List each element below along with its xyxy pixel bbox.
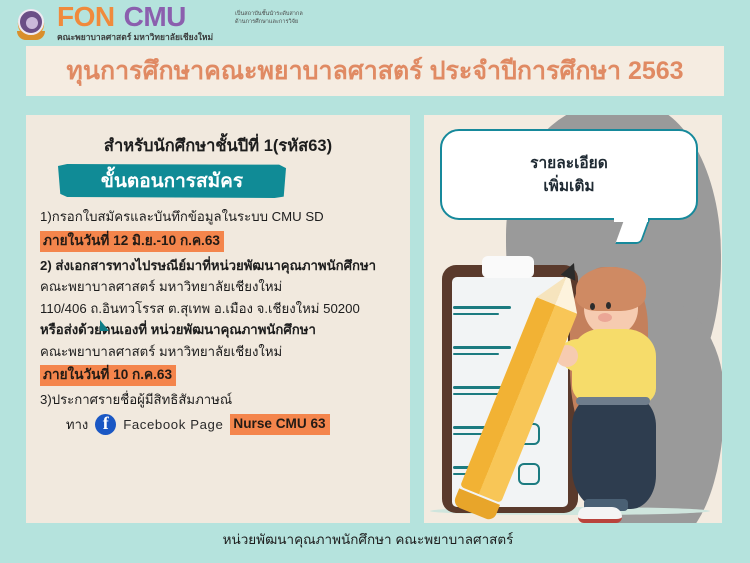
- step-2-walkin-line-1: หรือส่งด้วยตนเองที่ หน่วยพัฒนาคุณภาพนักศ…: [40, 319, 396, 341]
- eye-left: [590, 303, 595, 310]
- footer-text: หน่วยพัฒนาคุณภาพนักศึกษา คณะพยาบาลศาสตร์: [223, 532, 528, 547]
- step-1-text: 1)กรอกใบสมัครและบันทึกข้อมูลในระบบ CMU S…: [40, 206, 396, 228]
- seal-disc: [18, 9, 44, 35]
- logo-text-group: FONCMU คณะพยาบาลศาสตร์ มหาวิทยาลัยเชียงใ…: [57, 3, 213, 44]
- speech-bubble-line1: รายละเอียด: [530, 152, 608, 175]
- banner-tail: [100, 320, 109, 331]
- logo-bar: FONCMU คณะพยาบาลศาสตร์ มหาวิทยาลัยเชียงใ…: [0, 0, 750, 46]
- wordmark: FONCMU: [57, 3, 213, 31]
- step-3-channel-label: Facebook Page: [123, 417, 223, 432]
- page-title: ทุนการศึกษาคณะพยาบาลศาสตร์ ประจำปีการศึก…: [66, 51, 683, 91]
- step-2-deadline: ภายในวันที่ 10 ก.ค.63: [40, 365, 176, 386]
- cmu-seal-icon: [12, 4, 50, 42]
- step-1-deadline-wrap: ภายในวันที่ 12 มิ.ย.-10 ก.ค.63: [40, 231, 396, 252]
- belt: [576, 397, 650, 405]
- section-banner: ขั้นตอนการสมัคร: [58, 164, 286, 198]
- step-3-channel-row: ทาง Facebook Page Nurse CMU 63: [40, 414, 396, 435]
- step-3-text: 3)ประกาศรายชื่อผู้มีสิทธิสัมภาษณ์: [40, 389, 396, 411]
- logo-tagline-line2: ด้านการศึกษาและการวิจัย: [235, 18, 330, 26]
- logo-tagline-line1: เป็นสถาบันชั้นนำระดับสากล: [235, 10, 330, 18]
- speech-bubble-line2: เพิ่มเติม: [530, 175, 608, 198]
- wordmark-cmu: CMU: [124, 1, 186, 32]
- cheek-blush: [598, 313, 612, 322]
- speech-bubble-tail-mask: [614, 212, 648, 222]
- target-audience-label: สำหรับนักศึกษาชั้นปีที่ 1(รหัส63): [40, 133, 396, 159]
- step-2-deadline-wrap: ภายในวันที่ 10 ก.ค.63: [40, 365, 396, 386]
- speech-bubble-text: รายละเอียด เพิ่มเติม: [530, 152, 608, 198]
- step-3-page-name[interactable]: Nurse CMU 63: [230, 414, 329, 435]
- steps-list: 1)กรอกใบสมัครและบันทึกข้อมูลในระบบ CMU S…: [40, 206, 396, 435]
- poster-canvas: FONCMU คณะพยาบาลศาสตร์ มหาวิทยาลัยเชียงใ…: [0, 0, 750, 563]
- step-2-address-line-2: 110/406 ถ.อินทวโรรส ต.สุเทพ อ.เมือง จ.เช…: [40, 298, 396, 320]
- facebook-icon[interactable]: [95, 414, 116, 435]
- checklist-line-text: [453, 346, 511, 359]
- clipboard-clamp: [482, 256, 534, 278]
- eye-right: [606, 302, 611, 309]
- wordmark-fon: FON: [57, 1, 115, 32]
- step-2-walkin-line-2: คณะพยาบาลศาสตร์ มหาวิทยาลัยเชียงใหม่: [40, 341, 396, 363]
- step-2-text: 2) ส่งเอกสารทางไปรษณีย์มาที่หน่วยพัฒนาคุ…: [40, 255, 396, 277]
- checkbox[interactable]: [518, 463, 540, 485]
- step-1-deadline: ภายในวันที่ 12 มิ.ย.-10 ก.ค.63: [40, 231, 224, 252]
- footer: หน่วยพัฒนาคุณภาพนักศึกษา คณะพยาบาลศาสตร์: [0, 528, 750, 550]
- step-3-via-label: ทาง: [66, 414, 88, 435]
- step-2-address-line-1: คณะพยาบาลศาสตร์ มหาวิทยาลัยเชียงใหม่: [40, 276, 396, 298]
- checklist-line-text: [453, 306, 511, 319]
- section-banner-label: ขั้นตอนการสมัคร: [101, 172, 243, 191]
- speech-bubble: รายละเอียด เพิ่มเติม: [440, 129, 698, 220]
- title-band: ทุนการศึกษาคณะพยาบาลศาสตร์ ประจำปีการศึก…: [26, 46, 724, 96]
- logo-tagline: เป็นสถาบันชั้นนำระดับสากล ด้านการศึกษาแล…: [235, 10, 330, 26]
- steps-panel: สำหรับนักศึกษาชั้นปีที่ 1(รหัส63) ขั้นตอ…: [26, 115, 410, 523]
- faculty-name-thai: คณะพยาบาลศาสตร์ มหาวิทยาลัยเชียงใหม่: [57, 30, 213, 44]
- illustration-panel: รายละเอียด เพิ่มเติม: [424, 115, 722, 523]
- jeans: [572, 397, 656, 509]
- sneaker: [578, 507, 622, 523]
